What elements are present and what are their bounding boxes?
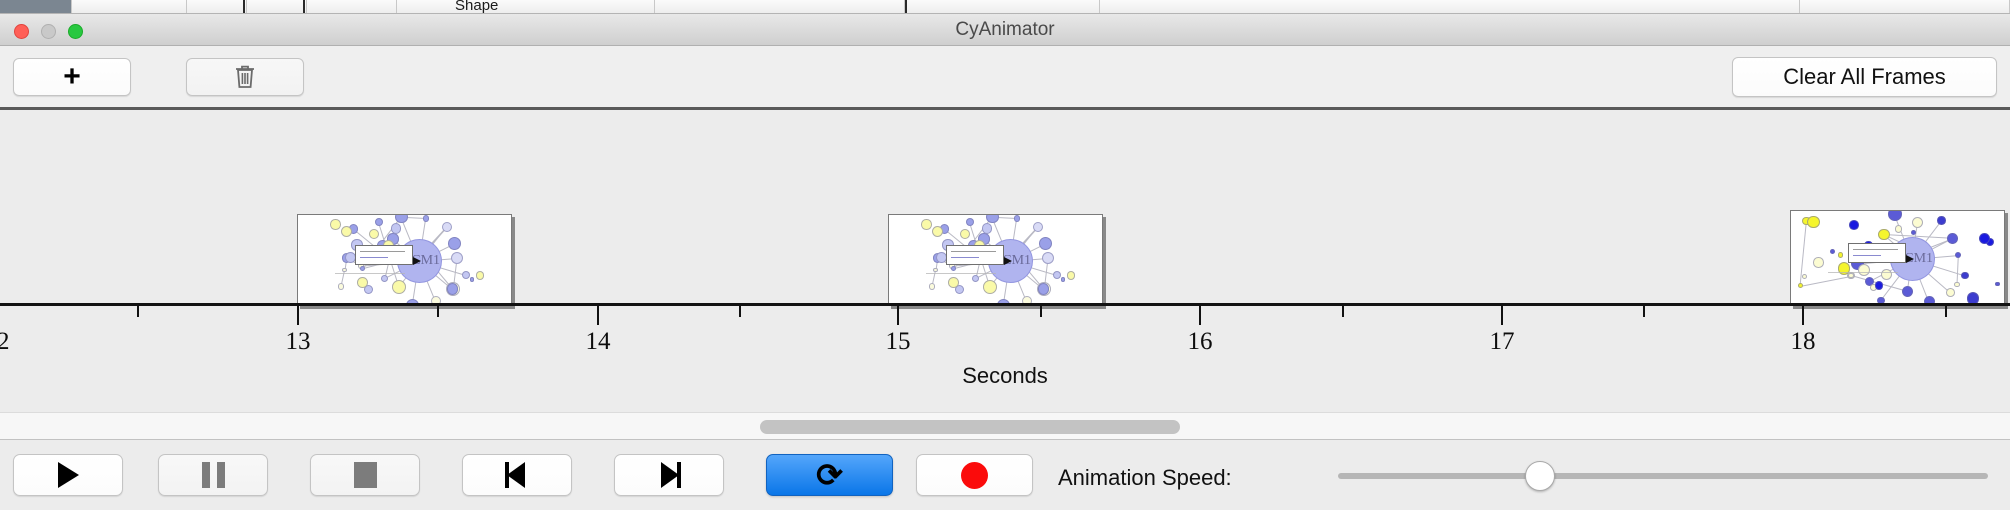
network-node bbox=[1802, 274, 1807, 279]
network-node bbox=[960, 229, 970, 239]
bg-column-header-shape: Shape bbox=[455, 0, 498, 14]
network-node bbox=[369, 229, 379, 239]
axis-tick-minor bbox=[1945, 306, 1947, 317]
skip-to-start-button[interactable] bbox=[462, 454, 572, 496]
network-node bbox=[1858, 264, 1870, 276]
network-node bbox=[1053, 271, 1061, 279]
axis-tick-minor bbox=[1342, 306, 1344, 317]
network-node bbox=[391, 223, 402, 234]
axis-tick-major bbox=[1501, 306, 1503, 325]
toolbar: + Clear All Frames bbox=[0, 46, 2010, 108]
network-node bbox=[338, 283, 345, 290]
axis-tick-label: 14 bbox=[586, 328, 611, 356]
bg-cell bbox=[1100, 0, 1800, 14]
network-caption-text bbox=[1828, 272, 1899, 273]
loop-button[interactable]: ⟳ bbox=[766, 454, 893, 496]
network-annotation-box bbox=[1848, 243, 1906, 263]
axis-tick-label: 18 bbox=[1791, 328, 1816, 356]
slider-track[interactable] bbox=[1338, 473, 1988, 479]
bg-cell bbox=[655, 0, 905, 14]
network-node bbox=[448, 237, 461, 250]
network-node bbox=[1995, 282, 1999, 286]
record-icon bbox=[961, 462, 988, 489]
window-title: CyAnimator bbox=[0, 14, 2010, 46]
axis-tick-major bbox=[1802, 306, 1804, 325]
network-node bbox=[447, 283, 458, 294]
network-node bbox=[966, 218, 974, 226]
animation-speed-label: Animation Speed: bbox=[1058, 465, 1232, 491]
axis-tick-label: 12 bbox=[0, 328, 10, 356]
stop-icon bbox=[354, 462, 377, 488]
network-node bbox=[1946, 288, 1955, 297]
network-node bbox=[1902, 286, 1914, 298]
axis-tick-minor bbox=[1643, 306, 1645, 317]
pause-button[interactable] bbox=[158, 454, 268, 496]
bg-cell bbox=[307, 0, 397, 14]
bg-cell bbox=[72, 0, 187, 14]
bg-cell bbox=[247, 0, 307, 14]
network-node bbox=[982, 223, 993, 234]
network-node bbox=[1798, 283, 1803, 288]
slider-thumb[interactable] bbox=[1525, 461, 1555, 491]
network-node bbox=[381, 275, 389, 283]
play-icon bbox=[58, 462, 79, 488]
annotation-text-line bbox=[1853, 249, 1898, 250]
bg-divider bbox=[303, 0, 305, 14]
network-node bbox=[341, 226, 353, 238]
network-node bbox=[929, 283, 936, 290]
annotation-text-line bbox=[951, 251, 996, 252]
cyanimator-window: Shape CyAnimator + Clear All Frames MCM1… bbox=[0, 0, 2010, 510]
playback-bar: ⟳ Animation Speed: bbox=[0, 441, 2010, 510]
bg-cell bbox=[905, 0, 1100, 14]
network-node bbox=[1061, 277, 1066, 282]
network-node bbox=[932, 226, 944, 238]
network-node bbox=[972, 275, 980, 283]
timeline-scrollbar[interactable] bbox=[0, 412, 2010, 440]
network-node bbox=[392, 280, 406, 294]
bg-cell bbox=[187, 0, 247, 14]
record-button[interactable] bbox=[916, 454, 1033, 496]
network-node bbox=[342, 268, 346, 272]
network-node bbox=[423, 215, 430, 222]
trash-icon bbox=[234, 64, 256, 90]
skip-forward-icon bbox=[657, 462, 681, 488]
network-node bbox=[1038, 283, 1049, 294]
network-node bbox=[921, 219, 931, 229]
network-node bbox=[462, 271, 470, 279]
network-node bbox=[983, 280, 997, 294]
annotation-text-line bbox=[360, 257, 388, 258]
axis-tick-label: 17 bbox=[1490, 328, 1515, 356]
annotation-text-line bbox=[360, 251, 405, 252]
annotation-text-line bbox=[1853, 255, 1881, 256]
clear-all-frames-button[interactable]: Clear All Frames bbox=[1732, 57, 1997, 97]
network-graph: MCM1 bbox=[1791, 211, 2004, 305]
play-button[interactable] bbox=[13, 454, 123, 496]
network-edge bbox=[1800, 276, 1851, 287]
pause-icon bbox=[202, 462, 225, 488]
network-node bbox=[1033, 222, 1043, 232]
network-node bbox=[1881, 269, 1893, 281]
add-frame-button[interactable]: + bbox=[13, 58, 131, 96]
timeline-axis bbox=[0, 303, 2010, 306]
title-bar: CyAnimator bbox=[0, 14, 2010, 46]
network-graph: MCM1 bbox=[889, 215, 1102, 305]
axis-tick-label: 15 bbox=[886, 328, 911, 356]
network-node bbox=[357, 277, 368, 288]
annotation-pointer-icon bbox=[413, 257, 421, 265]
network-node bbox=[1067, 271, 1075, 279]
frames-track[interactable]: MCM1MCM1MCM1 bbox=[0, 110, 2010, 304]
network-node bbox=[1979, 233, 1990, 244]
loop-icon: ⟳ bbox=[816, 459, 843, 491]
network-caption-text bbox=[335, 273, 406, 274]
network-node bbox=[1888, 210, 1902, 221]
network-node bbox=[1961, 272, 1969, 280]
network-node bbox=[1039, 237, 1052, 250]
network-node bbox=[470, 277, 475, 282]
axis-tick-major bbox=[897, 306, 899, 325]
network-node bbox=[442, 222, 452, 232]
network-node bbox=[395, 214, 407, 223]
annotation-pointer-icon bbox=[1004, 257, 1012, 265]
network-node bbox=[1807, 216, 1819, 228]
network-annotation-box bbox=[355, 245, 413, 264]
network-node bbox=[330, 219, 340, 229]
axis-tick-major bbox=[297, 306, 299, 325]
network-node bbox=[1937, 216, 1945, 224]
network-node bbox=[1014, 215, 1021, 222]
axis-tick-major bbox=[1199, 306, 1201, 325]
network-node bbox=[1947, 233, 1958, 244]
network-graph: MCM1 bbox=[298, 215, 511, 305]
network-node bbox=[1895, 225, 1903, 233]
network-node bbox=[1830, 249, 1835, 254]
background-app-strip: Shape bbox=[0, 0, 2010, 14]
bg-cell bbox=[0, 0, 72, 14]
skip-to-end-button[interactable] bbox=[614, 454, 724, 496]
timeline-panel[interactable]: MCM1MCM1MCM1 12131415161718 Seconds bbox=[0, 110, 2010, 410]
axis-tick-label: 13 bbox=[286, 328, 311, 356]
axis-tick-minor bbox=[137, 306, 139, 317]
axis-title: Seconds bbox=[0, 363, 2010, 389]
network-node bbox=[1954, 282, 1959, 287]
animation-speed-slider[interactable] bbox=[1338, 473, 1988, 479]
skip-back-icon bbox=[505, 462, 529, 488]
frame-thumbnail-1[interactable]: MCM1 bbox=[297, 214, 512, 306]
network-node bbox=[933, 268, 937, 272]
bg-divider bbox=[243, 0, 245, 14]
frame-thumbnail-2[interactable]: MCM1 bbox=[888, 214, 1103, 306]
scrollbar-thumb[interactable] bbox=[760, 420, 1180, 434]
network-edge bbox=[1956, 256, 1958, 285]
axis-tick-minor bbox=[1040, 306, 1042, 317]
annotation-text-line bbox=[951, 257, 979, 258]
network-node bbox=[1875, 281, 1884, 290]
network-annotation-box bbox=[946, 245, 1004, 264]
network-node bbox=[948, 277, 959, 288]
network-node bbox=[375, 218, 383, 226]
network-node bbox=[1042, 252, 1054, 264]
network-node bbox=[360, 266, 365, 271]
bg-cell bbox=[1800, 0, 2010, 14]
clear-all-frames-label: Clear All Frames bbox=[1783, 64, 1946, 90]
stop-button[interactable] bbox=[310, 454, 420, 496]
network-node bbox=[1813, 257, 1823, 267]
frame-thumbnail-3[interactable]: MCM1 bbox=[1790, 210, 2005, 306]
network-node bbox=[1838, 252, 1843, 257]
annotation-pointer-icon bbox=[1906, 255, 1914, 263]
bg-divider bbox=[905, 0, 907, 14]
network-node bbox=[1912, 217, 1923, 228]
network-node bbox=[1911, 230, 1916, 235]
plus-icon: + bbox=[63, 62, 81, 92]
network-caption-text bbox=[926, 273, 997, 274]
delete-frame-button[interactable] bbox=[186, 58, 304, 96]
axis-tick-minor bbox=[739, 306, 741, 317]
axis-tick-major bbox=[597, 306, 599, 325]
axis-tick-label: 16 bbox=[1188, 328, 1213, 356]
network-node bbox=[1849, 220, 1859, 230]
axis-tick-minor bbox=[437, 306, 439, 317]
network-node bbox=[1955, 252, 1962, 259]
network-node bbox=[451, 252, 463, 264]
network-node bbox=[986, 214, 998, 223]
network-node bbox=[951, 266, 956, 271]
network-node bbox=[476, 271, 484, 279]
bg-cell bbox=[397, 0, 655, 14]
